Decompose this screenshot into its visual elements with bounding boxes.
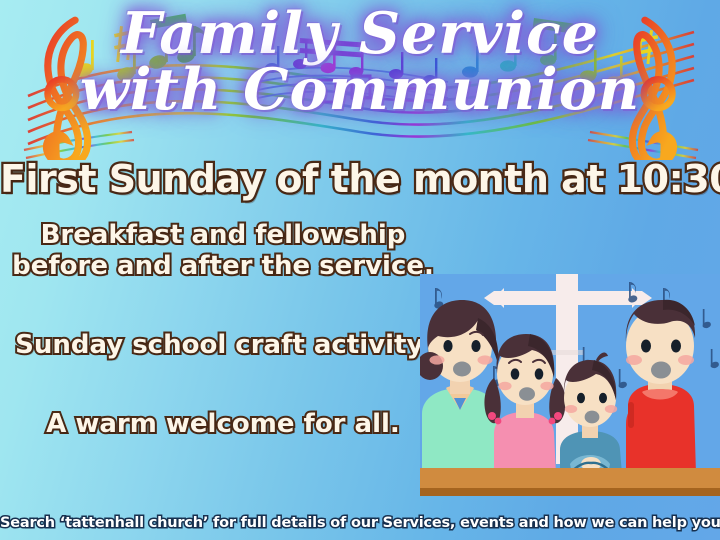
body-line-4: A warm welcome for all.: [8, 409, 438, 440]
body-line-3: Sunday school craft activity.: [8, 330, 438, 361]
music-note-icon: [580, 50, 597, 82]
music-note-icon: [606, 56, 623, 88]
music-note-icon: [500, 40, 517, 72]
body-line-1: Breakfast and fellowship: [8, 220, 438, 251]
poster-canvas: Family Service with Communion First Sund…: [0, 0, 720, 540]
family-illustration: [420, 274, 720, 506]
service-time-headline: First Sunday of the month at 10:30am: [0, 157, 720, 201]
footer-text: Search ‘tattenhall church’ for full deta…: [0, 514, 720, 532]
music-note-icon: [175, 26, 207, 65]
body-line-2: before and after the service.: [8, 251, 438, 282]
church-bench: [420, 468, 720, 496]
music-staff-decoration: [0, 0, 720, 160]
poster-body: Breakfast and fellowship before and afte…: [8, 220, 438, 440]
spacer: [8, 282, 438, 330]
spacer: [8, 361, 438, 409]
music-note-icon: [462, 46, 479, 78]
music-note-icon: [540, 34, 557, 66]
treble-clef-icon: [632, 20, 673, 160]
